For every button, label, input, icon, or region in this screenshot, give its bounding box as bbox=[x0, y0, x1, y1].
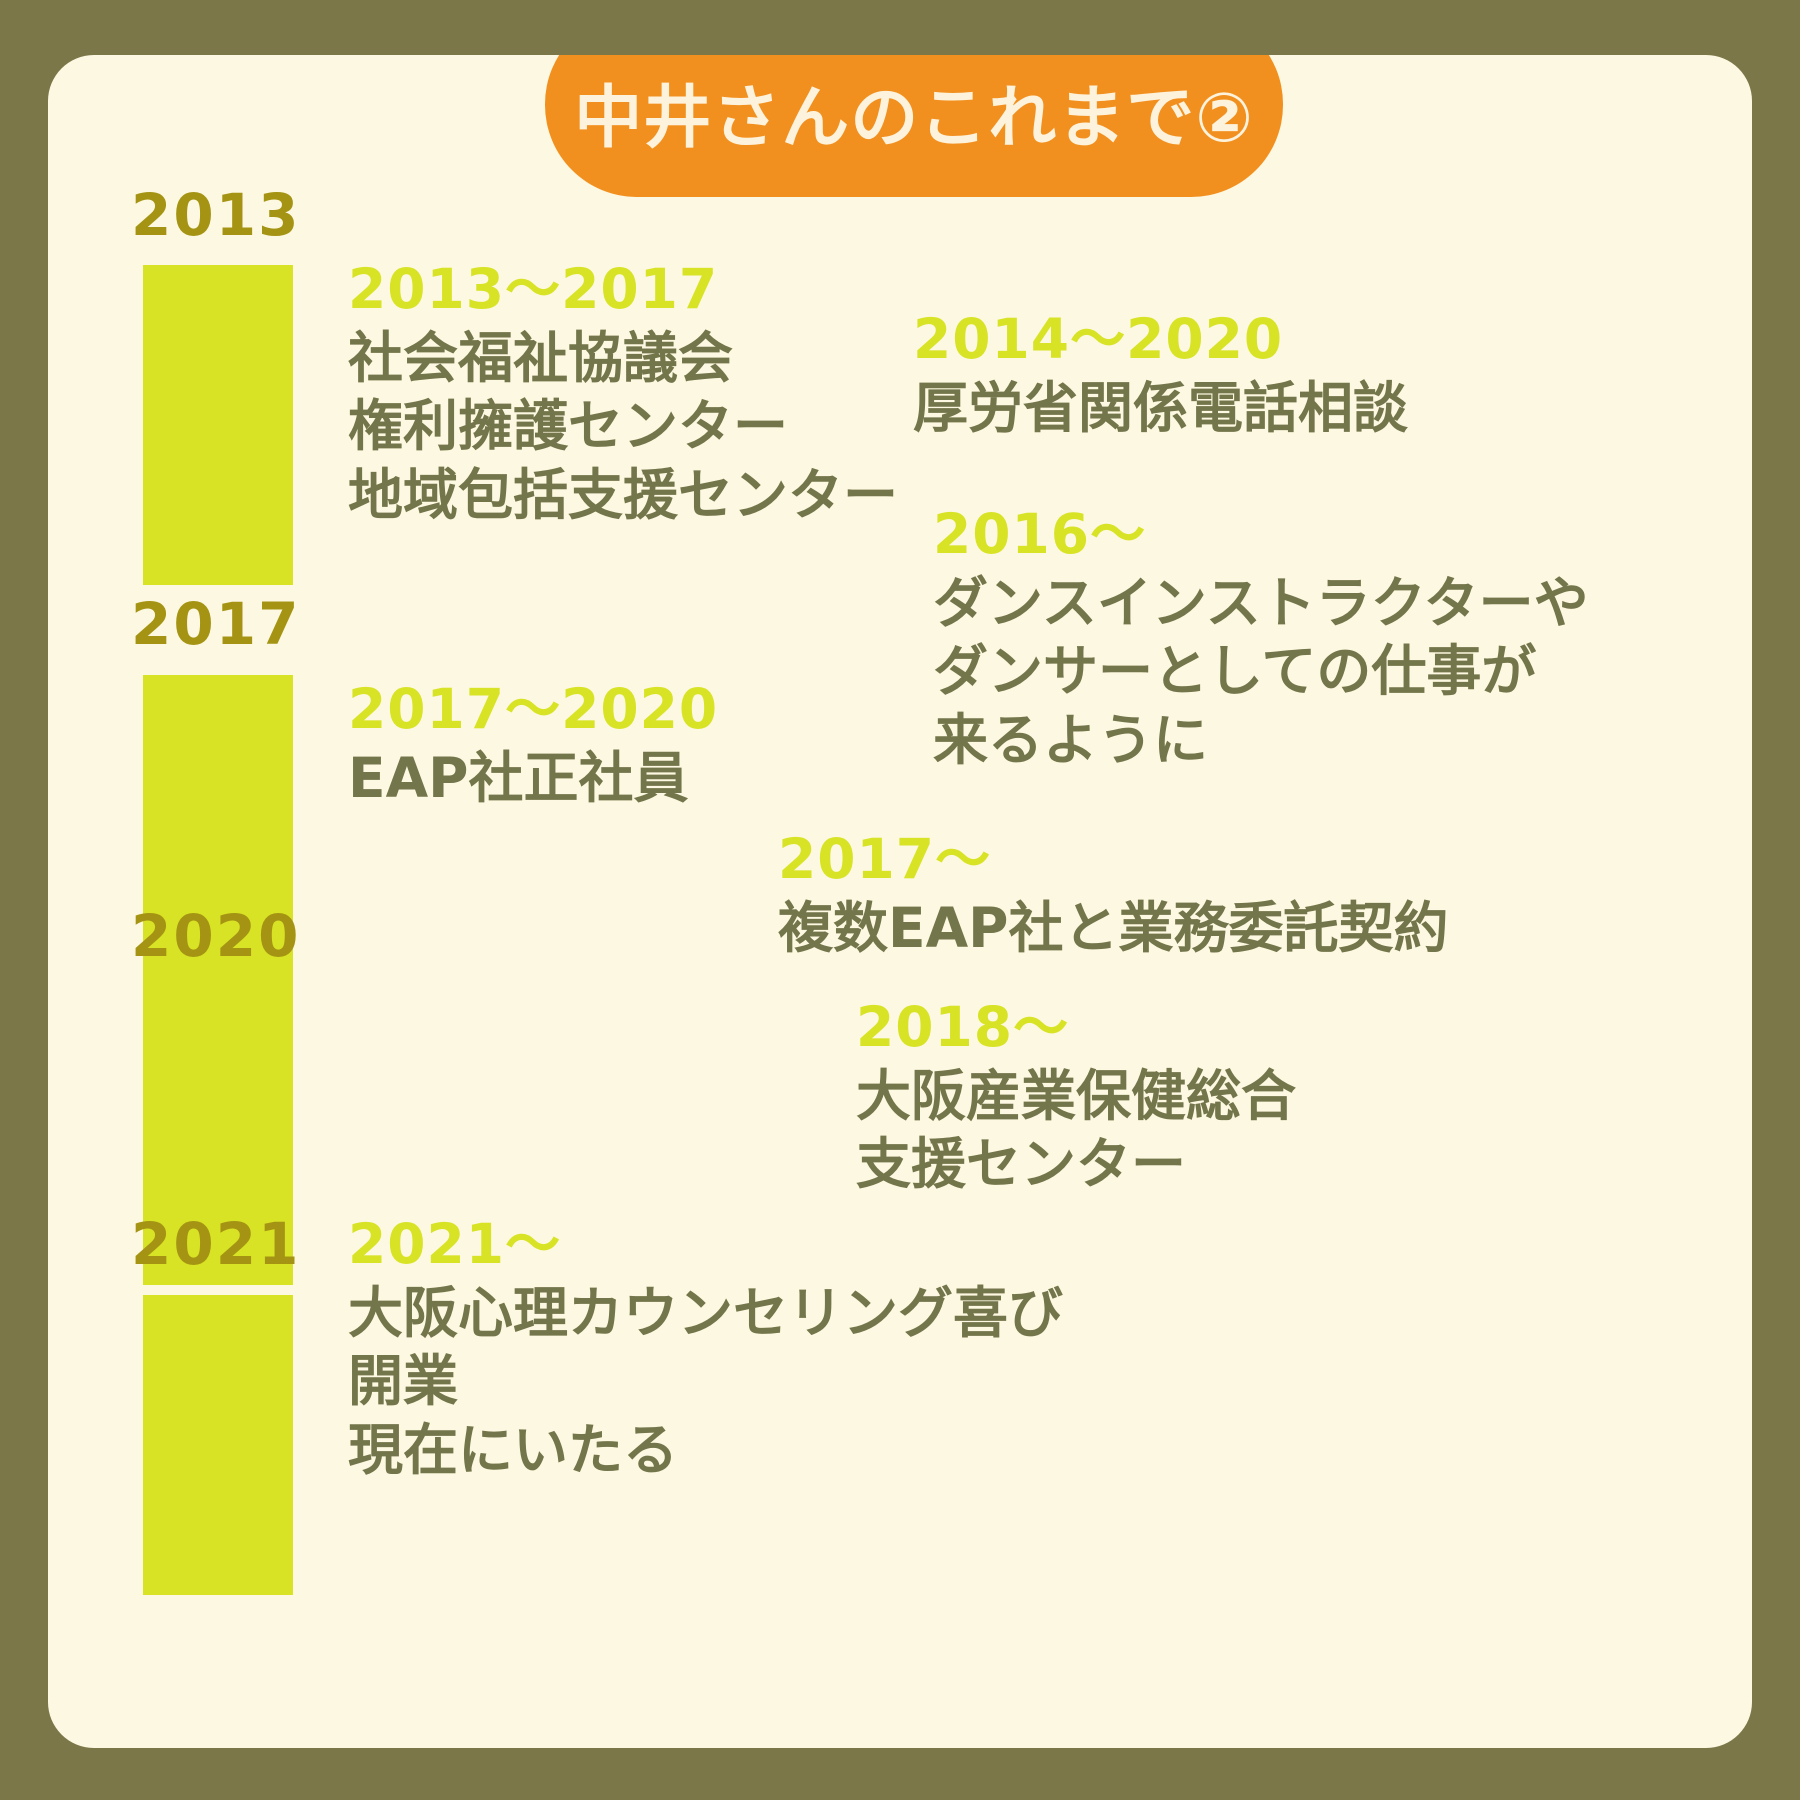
entry-range: 2021〜 bbox=[348, 1210, 1063, 1279]
entry-line: ダンスインストラクターや bbox=[933, 569, 1589, 637]
entry-range: 2016〜 bbox=[933, 500, 1589, 569]
entry-range: 2018〜 bbox=[856, 993, 1296, 1062]
timeline-arrow-4 bbox=[143, 1295, 293, 1595]
entry-line: 来るように bbox=[933, 706, 1589, 774]
poster-card: 中井さんのこれまで② 2013 2017 2020 2021 2013〜2017… bbox=[48, 55, 1752, 1748]
timeline-year-2021: 2021 bbox=[131, 1215, 300, 1273]
timeline-year-2020: 2020 bbox=[131, 907, 300, 965]
timeline-year-2013: 2013 bbox=[131, 186, 300, 244]
entry-line: 社会福祉協議会 bbox=[348, 324, 898, 392]
entry-line: 大阪産業保健総合 bbox=[856, 1062, 1296, 1130]
entry-line: 大阪心理カウンセリング喜び bbox=[348, 1279, 1063, 1347]
entry-2013-2017: 2013〜2017 社会福祉協議会 権利擁護センター 地域包括支援センター bbox=[348, 255, 898, 529]
entry-2016: 2016〜 ダンスインストラクターや ダンサーとしての仕事が 来るように bbox=[933, 500, 1589, 774]
entry-line: 複数EAP社と業務委託契約 bbox=[778, 894, 1448, 962]
entry-range: 2017〜 bbox=[778, 825, 1448, 894]
entry-line: 地域包括支援センター bbox=[348, 461, 898, 529]
entry-range: 2013〜2017 bbox=[348, 255, 898, 324]
entry-line: 開業 bbox=[348, 1347, 1063, 1415]
poster-root: 中井さんのこれまで② 2013 2017 2020 2021 2013〜2017… bbox=[0, 0, 1800, 1800]
entry-range: 2014〜2020 bbox=[913, 305, 1408, 374]
entry-line: 権利擁護センター bbox=[348, 392, 898, 460]
timeline-year-2017: 2017 bbox=[131, 595, 300, 653]
entry-2018: 2018〜 大阪産業保健総合 支援センター bbox=[856, 993, 1296, 1199]
page-title: 中井さんのこれまで② bbox=[574, 57, 1254, 153]
entry-line: 現在にいたる bbox=[348, 1416, 1063, 1484]
entry-line: 支援センター bbox=[856, 1130, 1296, 1198]
entry-2017-2020: 2017〜2020 EAP社正社員 bbox=[348, 675, 718, 812]
entry-range: 2017〜2020 bbox=[348, 675, 718, 744]
timeline-arrow-1 bbox=[143, 265, 293, 585]
entry-line: 厚労省関係電話相談 bbox=[913, 374, 1408, 442]
entry-2017: 2017〜 複数EAP社と業務委託契約 bbox=[778, 825, 1448, 962]
entry-2014-2020: 2014〜2020 厚労省関係電話相談 bbox=[913, 305, 1408, 442]
entry-2021: 2021〜 大阪心理カウンセリング喜び 開業 現在にいたる bbox=[348, 1210, 1063, 1484]
entry-line: EAP社正社員 bbox=[348, 744, 718, 812]
title-badge: 中井さんのこれまで② bbox=[545, 55, 1283, 197]
entry-line: ダンサーとしての仕事が bbox=[933, 637, 1589, 705]
